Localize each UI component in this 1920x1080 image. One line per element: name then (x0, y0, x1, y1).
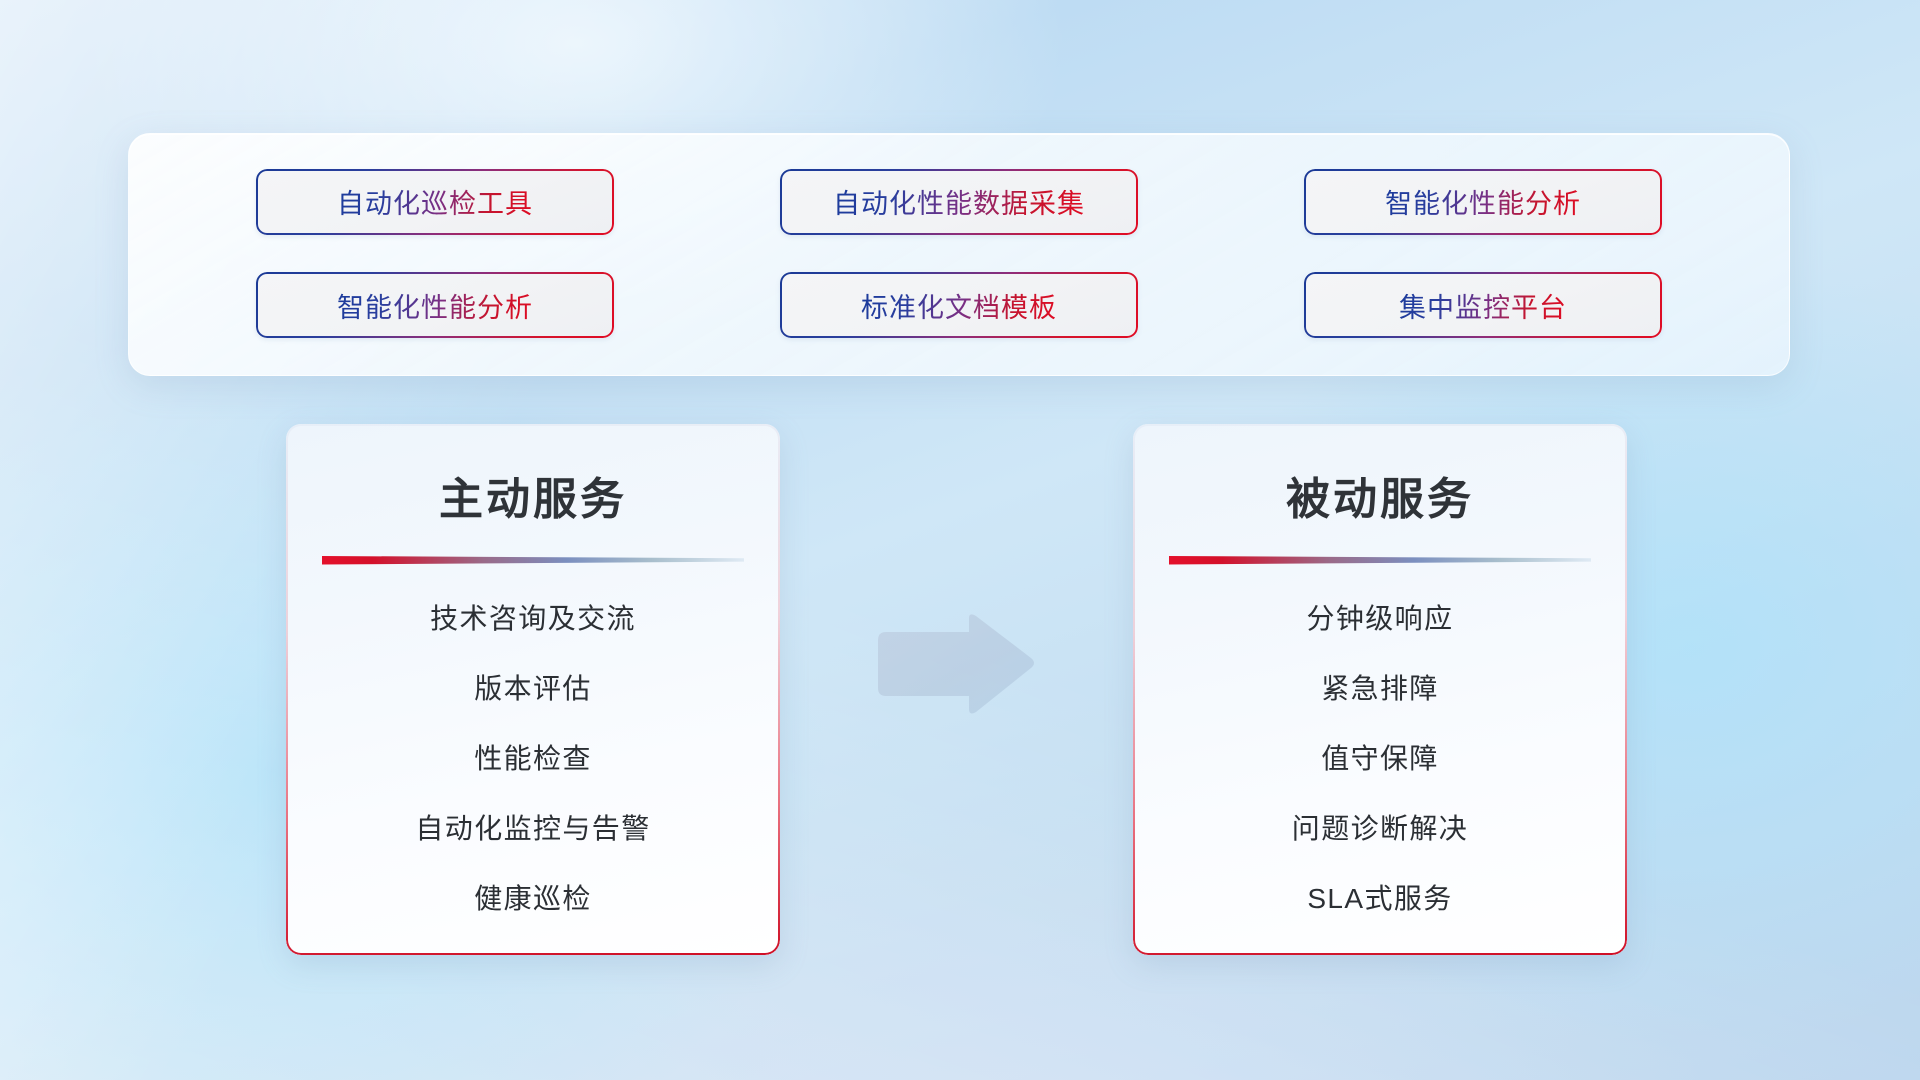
capability-chip[interactable]: 标准化文档模板 (780, 272, 1138, 338)
card-title: 主动服务 (286, 463, 780, 527)
list-item: 问题诊断解决 (1292, 807, 1468, 847)
capability-chip-label: 智能化性能分析 (1385, 182, 1581, 221)
capabilities-panel: 自动化巡检工具 自动化性能数据采集 智能化性能分析 智能化性能分析 标准化文档模… (128, 133, 1790, 376)
list-item: 值守保障 (1321, 737, 1439, 777)
list-item: SLA式服务 (1307, 877, 1452, 917)
capability-chip[interactable]: 智能化性能分析 (256, 272, 614, 338)
list-item: 健康巡检 (474, 877, 592, 917)
service-card-reactive: 被动服务 分钟级响应 紧急排障 值守保障 问题诊断解决 SLA式服务 (1133, 424, 1627, 955)
capability-chip-label: 自动化性能数据采集 (833, 182, 1085, 221)
capability-chip-label: 智能化性能分析 (337, 286, 533, 325)
capability-chip[interactable]: 自动化巡检工具 (256, 169, 614, 235)
list-item: 性能检查 (474, 737, 592, 777)
service-card-proactive: 主动服务 技术咨询及交流 版本评估 性能检查 自动化监控与告警 健康巡检 (286, 424, 780, 955)
card-divider (1169, 553, 1591, 566)
card-title: 被动服务 (1133, 463, 1627, 527)
capability-chip[interactable]: 集中监控平台 (1304, 272, 1662, 338)
capability-chip-grid: 自动化巡检工具 自动化性能数据采集 智能化性能分析 智能化性能分析 标准化文档模… (129, 134, 1789, 375)
service-item-list: 分钟级响应 紧急排障 值守保障 问题诊断解决 SLA式服务 (1133, 597, 1627, 917)
list-item: 版本评估 (474, 667, 592, 707)
capability-chip[interactable]: 自动化性能数据采集 (780, 169, 1138, 235)
capability-chip-label: 标准化文档模板 (861, 286, 1057, 325)
list-item: 紧急排障 (1321, 667, 1439, 707)
capability-chip-label: 集中监控平台 (1399, 286, 1567, 325)
gradient-divider-icon (1169, 553, 1591, 566)
service-item-list: 技术咨询及交流 版本评估 性能检查 自动化监控与告警 健康巡检 (286, 597, 780, 917)
list-item: 自动化监控与告警 (415, 807, 650, 847)
card-divider (322, 553, 744, 566)
list-item: 技术咨询及交流 (430, 597, 636, 637)
right-arrow-icon (872, 612, 1037, 717)
capability-chip[interactable]: 智能化性能分析 (1304, 169, 1662, 235)
gradient-divider-icon (322, 553, 744, 566)
capability-chip-label: 自动化巡检工具 (337, 182, 533, 221)
list-item: 分钟级响应 (1306, 597, 1453, 637)
